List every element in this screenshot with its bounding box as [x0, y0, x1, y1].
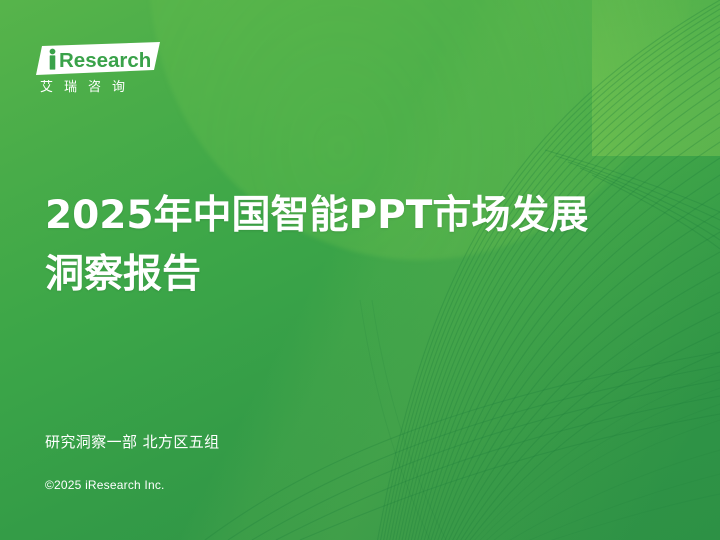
iresearch-logo: Research 艾瑞咨询	[36, 42, 176, 108]
report-cover-slide: Research 艾瑞咨询 2025年中国智能PPT市场发展 洞察报告 研究洞察…	[0, 0, 720, 540]
department-label: 研究洞察一部 北方区五组	[45, 431, 220, 452]
page-title-line-1: 2025年中国智能PPT市场发展	[45, 186, 685, 245]
logo-parallelogram-icon: Research	[36, 42, 160, 75]
logo-chinese-name: 艾瑞咨询	[40, 81, 176, 94]
logo-wordmark-badge: Research	[36, 42, 160, 75]
page-title-line-2: 洞察报告	[45, 245, 685, 304]
page-title: 2025年中国智能PPT市场发展 洞察报告	[45, 186, 685, 305]
copyright-label: ©2025 iResearch Inc.	[45, 478, 165, 492]
logo-wordmark-text: Research	[59, 49, 151, 72]
